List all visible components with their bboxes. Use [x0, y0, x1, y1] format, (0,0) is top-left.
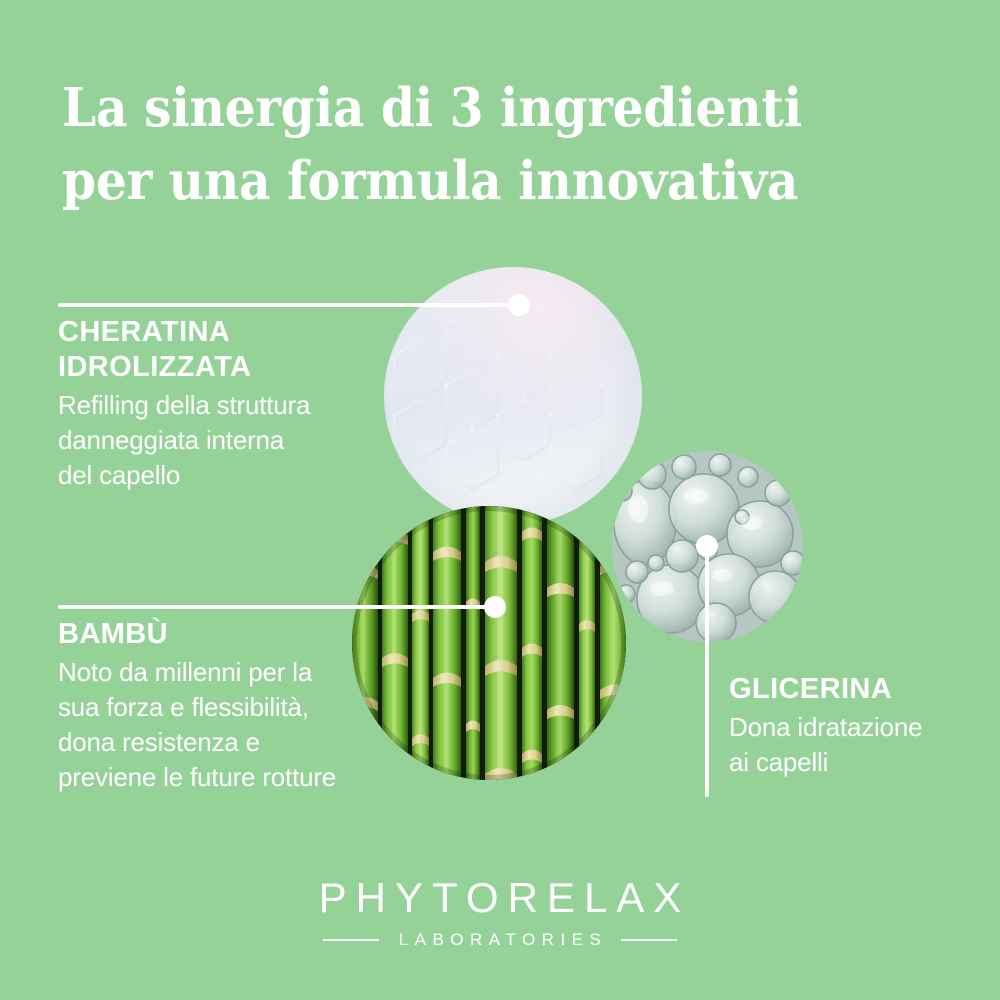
ingredient-description-glicerina: Dona idratazione ai capelli: [729, 710, 979, 780]
ingredient-image-bambu: [352, 506, 626, 780]
leader-dot-bambu: [484, 596, 506, 618]
ingredient-description-bambu: Noto da millenni per la sua forza e fles…: [58, 655, 388, 795]
brand-subtitle-row: LABORATORIES: [0, 931, 1000, 949]
bamboo-stalks-icon: [352, 506, 626, 780]
ingredient-description-cheratina: Refilling della struttura danneggiata in…: [58, 388, 388, 493]
brand-subtitle: LABORATORIES: [393, 931, 608, 949]
brand-name: PHYTORELAX: [0, 876, 1000, 920]
page-title: La sinergia di 3 ingredienti per una for…: [62, 72, 816, 218]
leader-dot-glicerina: [696, 535, 718, 557]
ingredient-block-glicerina: GLICERINA Dona idratazione ai capelli: [729, 672, 979, 780]
ingredient-title-bambu: BAMBÙ: [58, 617, 388, 652]
poster-canvas: La sinergia di 3 ingredienti per una for…: [0, 0, 1000, 1000]
leader-dot-cheratina: [508, 294, 530, 316]
brand-logo: PHYTORELAX LABORATORIES: [0, 876, 1000, 949]
leader-line-glicerina: [705, 545, 709, 797]
brand-dash-right-icon: [621, 939, 677, 941]
ingredient-block-bambu: BAMBÙ Noto da millenni per la sua forza …: [58, 617, 388, 795]
leader-line-bambu: [58, 605, 496, 609]
brand-dash-left-icon: [323, 939, 379, 941]
ingredient-title-glicerina: GLICERINA: [729, 672, 979, 707]
ingredient-title-cheratina: CHERATINA IDROLIZZATA: [58, 315, 388, 385]
ingredient-block-cheratina: CHERATINA IDROLIZZATA Refilling della st…: [58, 315, 388, 493]
leader-line-cheratina: [58, 303, 520, 307]
